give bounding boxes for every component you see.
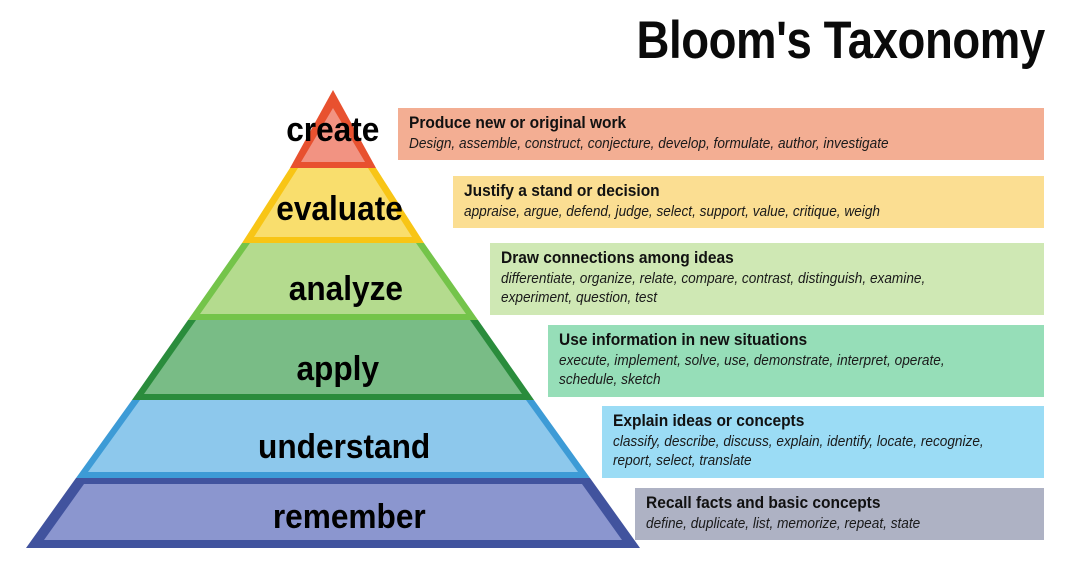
description-heading-understand: Explain ideas or concepts <box>613 411 1009 432</box>
tier-label-analyze: analyze <box>217 272 403 306</box>
description-heading-apply: Use information in new situations <box>559 330 1006 351</box>
description-box-evaluate[interactable]: Justify a stand or decision appraise, ar… <box>453 176 1044 228</box>
description-box-create[interactable]: Produce new or original work Design, ass… <box>398 108 1044 160</box>
tier-label-remember: remember <box>179 500 425 534</box>
description-verbs-apply-line2: schedule, sketch <box>559 371 1006 390</box>
tier-label-apply: apply <box>221 352 379 386</box>
description-box-analyze[interactable]: Draw connections among ideas differentia… <box>490 243 1044 315</box>
description-heading-remember: Recall facts and basic concepts <box>646 493 1011 514</box>
tier-label-create: create <box>231 113 380 147</box>
blooms-taxonomy-diagram: Bloom's Taxonomy <box>0 0 1083 562</box>
description-box-remember[interactable]: Recall facts and basic concepts define, … <box>635 488 1044 540</box>
description-verbs-understand: classify, describe, discuss, explain, id… <box>613 433 1009 452</box>
description-verbs-analyze: differentiate, organize, relate, compare… <box>501 270 1002 289</box>
description-heading-analyze: Draw connections among ideas <box>501 248 1002 269</box>
description-box-apply[interactable]: Use information in new situations execut… <box>548 325 1044 397</box>
description-verbs-evaluate: appraise, argue, defend, judge, select, … <box>464 203 1000 222</box>
description-verbs-understand-line2: report, select, translate <box>613 452 1009 471</box>
description-verbs-remember: define, duplicate, list, memorize, repea… <box>646 515 1011 534</box>
description-verbs-create: Design, assemble, construct, conjecture,… <box>409 135 997 154</box>
page-title: Bloom's Taxonomy <box>637 14 1045 67</box>
description-heading-create: Produce new or original work <box>409 113 997 134</box>
description-verbs-analyze-line2: experiment, question, test <box>501 289 1002 308</box>
description-heading-evaluate: Justify a stand or decision <box>464 181 1000 202</box>
tier-label-evaluate: evaluate <box>212 192 403 226</box>
tier-label-understand: understand <box>170 430 430 464</box>
description-box-understand[interactable]: Explain ideas or concepts classify, desc… <box>602 406 1044 478</box>
description-verbs-apply: execute, implement, solve, use, demonstr… <box>559 352 1006 371</box>
